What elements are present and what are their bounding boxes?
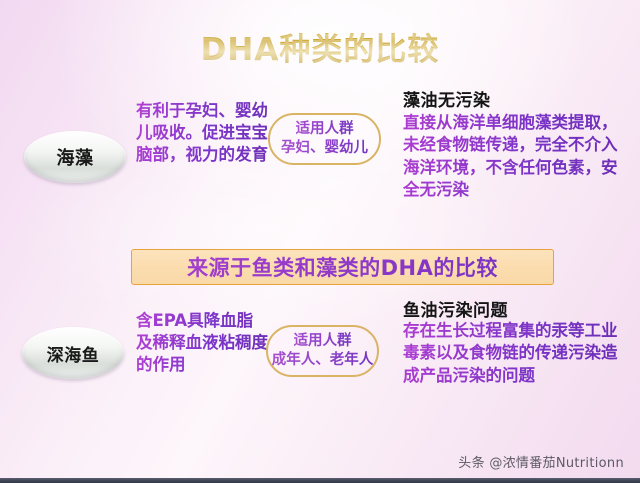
heading-algae-oil: 藻油无污染 bbox=[403, 86, 491, 111]
body-fish-oil-pollution: 存在生长过程富集的汞等工业毒素以及食物链的传递污染造成产品污染的问题 bbox=[403, 320, 627, 387]
badge-deep-sea-fish-label: 深海鱼 bbox=[47, 341, 100, 366]
pill-target-group-seaweed: 适用人群 孕妇、婴幼儿 bbox=[268, 113, 381, 165]
body-algae-oil: 直接从海洋单细胞藻类提取，未经食物链传递，完全不介入海洋环境，不含任何色素，安全… bbox=[403, 112, 627, 201]
page-title: DHA种类的比较 bbox=[0, 24, 640, 69]
bottom-bar bbox=[0, 478, 640, 483]
pill-seaweed-line1: 适用人群 bbox=[296, 120, 354, 139]
badge-deep-sea-fish: 深海鱼 bbox=[22, 327, 124, 379]
center-banner-label: 来源于鱼类和藻类的DHA的比较 bbox=[187, 252, 498, 282]
badge-seaweed-label: 海藻 bbox=[57, 144, 94, 170]
description-deep-sea-fish: 含EPA具降血脂及稀释血液粘稠度的作用 bbox=[136, 310, 268, 375]
pill-target-group-deep-sea-fish: 适用人群 成年人、老年人 bbox=[266, 325, 379, 377]
pill-seaweed-line2: 孕妇、婴幼儿 bbox=[281, 139, 368, 158]
watermark: 头条 @浓情番茄Nutritionn bbox=[458, 452, 624, 471]
description-seaweed: 有利于孕妇、婴幼儿吸收。促进宝宝脑部，视力的发育 bbox=[136, 100, 268, 165]
center-banner: 来源于鱼类和藻类的DHA的比较 bbox=[131, 249, 554, 285]
slide-canvas: DHA种类的比较 海藻 有利于孕妇、婴幼儿吸收。促进宝宝脑部，视力的发育 适用人… bbox=[0, 0, 640, 483]
badge-seaweed: 海藻 bbox=[24, 131, 126, 183]
pill-deep-sea-fish-line2: 成年人、老年人 bbox=[272, 351, 374, 370]
heading-fish-oil-pollution: 鱼油污染问题 bbox=[403, 296, 508, 321]
pill-deep-sea-fish-line1: 适用人群 bbox=[294, 332, 352, 351]
